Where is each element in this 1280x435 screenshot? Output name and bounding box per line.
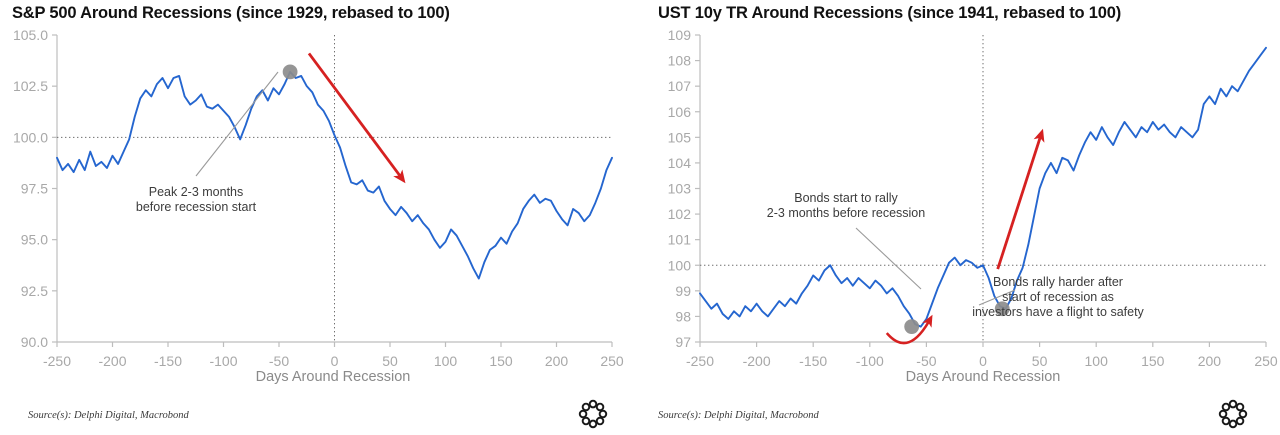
y-tick-label: 102.5: [13, 78, 48, 94]
y-tick-label: 105.0: [13, 27, 48, 43]
x-tick-label: 0: [979, 353, 987, 369]
source-note-sp500: Source(s): Delphi Digital, Macrobond: [28, 410, 189, 421]
rally-arrow: [998, 132, 1042, 269]
y-tick-label: 108: [668, 53, 692, 69]
y-tick-label: 98: [675, 308, 691, 324]
y-tick-label: 97.5: [21, 181, 48, 197]
x-tick-label: -100: [209, 353, 237, 369]
y-tick-label: 103: [668, 181, 692, 197]
peak-marker: [283, 64, 298, 79]
x-tick-label: 250: [600, 353, 624, 369]
chart-sp500: 90.092.595.097.5100.0102.5105.0-250-200-…: [0, 0, 640, 435]
x-tick-label: 100: [1085, 353, 1109, 369]
x-tick-label: 50: [382, 353, 398, 369]
annotation-line: 2-3 months before recession: [767, 206, 925, 220]
delphi-ring-icon: [1218, 399, 1248, 429]
annotation-line: Bonds start to rally: [794, 191, 898, 205]
x-tick-label: 200: [545, 353, 569, 369]
delphi-ring-icon: [578, 399, 608, 429]
y-tick-label: 92.5: [21, 283, 48, 299]
y-tick-label: 101: [668, 232, 692, 248]
y-tick-label: 105: [668, 129, 692, 145]
x-tick-label: -250: [686, 353, 714, 369]
x-tick-label: -50: [269, 353, 289, 369]
x-tick-label: -250: [43, 353, 71, 369]
peak-annotation: Peak 2-3 monthsbefore recession start: [136, 185, 257, 214]
panel-ust10y: UST 10y TR Around Recessions (since 1941…: [640, 0, 1280, 435]
y-tick-label: 104: [668, 155, 692, 171]
x-tick-label: 50: [1032, 353, 1048, 369]
trough-marker: [904, 319, 919, 334]
x-tick-label: 200: [1198, 353, 1222, 369]
x-axis-label: Days Around Recession: [256, 369, 411, 385]
y-tick-label: 107: [668, 78, 692, 94]
panel-sp500: S&P 500 Around Recessions (since 1929, r…: [0, 0, 640, 435]
annotation-line: investors have a flight to safety: [972, 305, 1144, 319]
x-tick-label: -50: [916, 353, 936, 369]
y-tick-label: 100.0: [13, 129, 48, 145]
x-axis-label: Days Around Recession: [906, 369, 1061, 385]
dual-chart-board: S&P 500 Around Recessions (since 1929, r…: [0, 0, 1280, 435]
annotation-line: Bonds rally harder after: [993, 275, 1123, 289]
x-tick-label: 150: [1141, 353, 1165, 369]
annotation-line: Peak 2-3 months: [149, 185, 244, 199]
chart-ust10y: 979899100101102103104105106107108109-250…: [640, 0, 1280, 435]
y-tick-label: 102: [668, 206, 692, 222]
annotation-line: before recession start: [136, 200, 257, 214]
y-tick-label: 106: [668, 104, 692, 120]
x-tick-label: -200: [743, 353, 771, 369]
x-tick-label: 100: [434, 353, 458, 369]
y-tick-label: 95.0: [21, 232, 48, 248]
source-note-ust10y: Source(s): Delphi Digital, Macrobond: [658, 410, 819, 421]
y-tick-label: 109: [668, 27, 692, 43]
decline-arrow: [309, 53, 403, 180]
rally-start-annotation: Bonds start to rally2-3 months before re…: [767, 191, 925, 220]
x-tick-label: 250: [1254, 353, 1278, 369]
x-tick-label: 150: [489, 353, 513, 369]
x-tick-label: -150: [799, 353, 827, 369]
y-tick-label: 90.0: [21, 334, 48, 350]
x-tick-label: 0: [331, 353, 339, 369]
x-tick-label: -150: [154, 353, 182, 369]
y-tick-label: 100: [668, 257, 692, 273]
annotation-line: start of recession as: [1002, 290, 1114, 304]
annotation-leader-line: [196, 72, 278, 176]
x-tick-label: -200: [98, 353, 126, 369]
y-tick-label: 97: [675, 334, 691, 350]
y-tick-label: 99: [675, 283, 691, 299]
annotation-leader-line: [856, 228, 921, 289]
x-tick-label: -100: [856, 353, 884, 369]
